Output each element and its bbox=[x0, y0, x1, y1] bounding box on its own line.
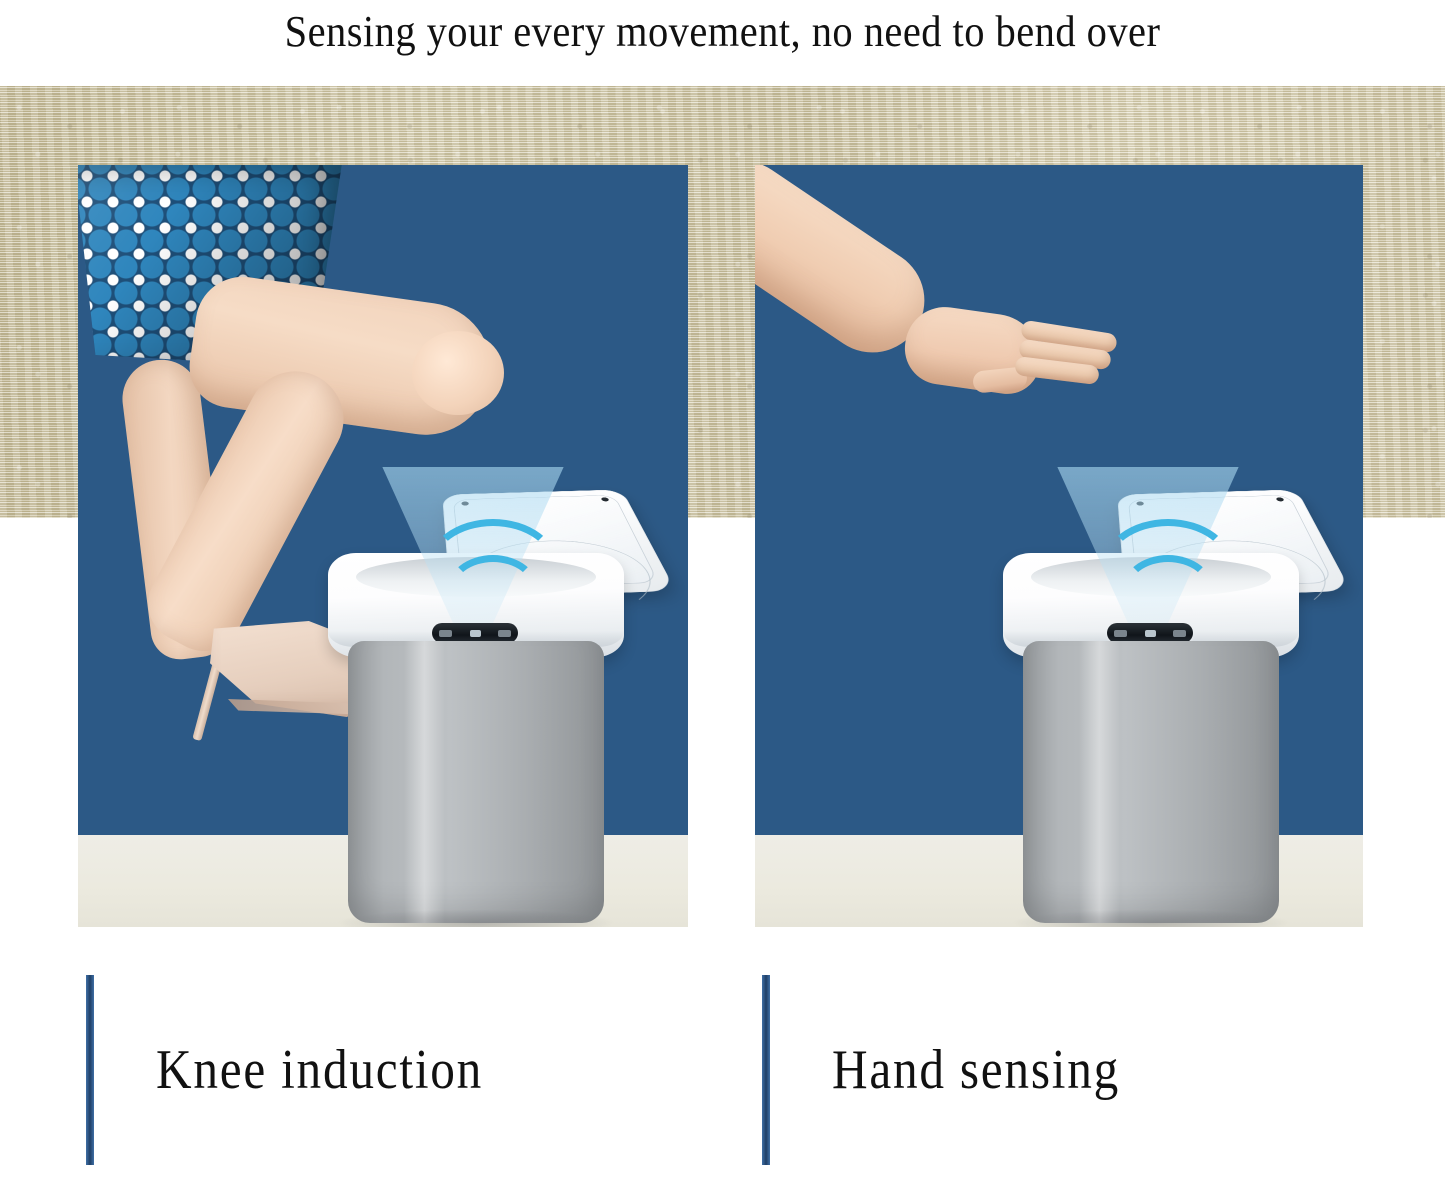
motion-sensor-strip bbox=[1107, 623, 1193, 643]
bin-opening bbox=[1031, 557, 1271, 597]
caption-label: Hand sensing bbox=[832, 1038, 1120, 1102]
bin-body bbox=[1023, 641, 1279, 923]
sensor-led-right bbox=[1173, 630, 1186, 637]
caption-hand-sensing: Hand sensing bbox=[762, 975, 1159, 1165]
bin-body-highlight bbox=[1079, 641, 1120, 923]
sensor-led-center bbox=[470, 630, 481, 637]
smart-trash-bin-hand bbox=[1003, 409, 1299, 923]
caption-label: Knee induction bbox=[156, 1038, 483, 1102]
scene-panel-knee bbox=[78, 165, 688, 927]
scene-panel-hand bbox=[755, 165, 1363, 927]
sensor-led-center bbox=[1145, 630, 1156, 637]
bin-body-highlight bbox=[404, 641, 445, 923]
caption-accent-bar bbox=[762, 975, 770, 1165]
motion-sensor-strip bbox=[432, 623, 518, 643]
knee-highlight bbox=[412, 331, 504, 415]
sensor-led-left bbox=[1114, 630, 1127, 637]
smart-trash-bin-knee bbox=[328, 409, 624, 923]
page-headline: Sensing your every movement, no need to … bbox=[58, 0, 1387, 62]
sensor-led-right bbox=[498, 630, 511, 637]
sensor-led-left bbox=[439, 630, 452, 637]
bin-body bbox=[348, 641, 604, 923]
product-feature-page: Sensing your every movement, no need to … bbox=[0, 0, 1445, 1188]
bin-opening bbox=[356, 557, 596, 597]
caption-knee-induction: Knee induction bbox=[86, 975, 528, 1165]
caption-accent-bar bbox=[86, 975, 94, 1165]
